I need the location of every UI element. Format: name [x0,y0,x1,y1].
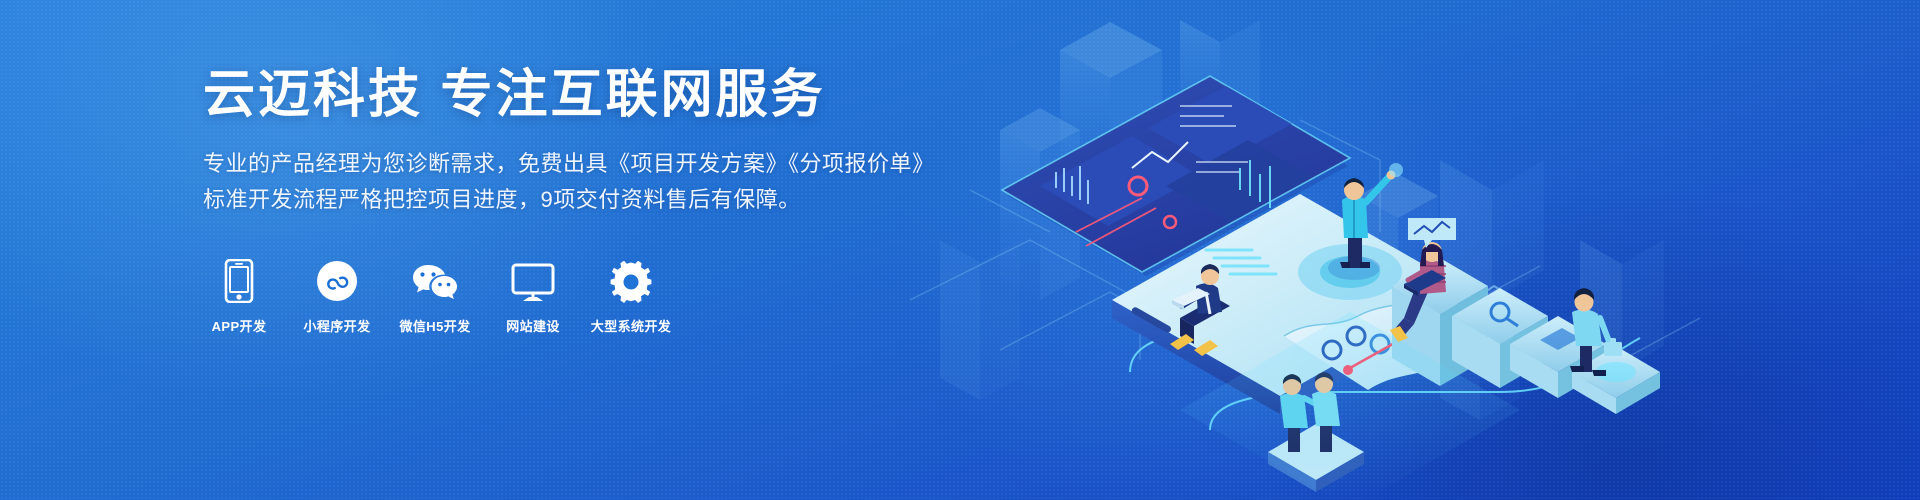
mobile-phone-icon [224,259,254,303]
data-report-sheet [1284,286,1520,390]
service-item-mini-program[interactable]: 小程序开发 [301,259,373,335]
mini-program-icon [316,259,358,303]
dashboard-screen [1002,76,1350,276]
service-list: APP开发 小程序开发 [203,259,923,335]
glowing-floor-path [1130,286,1640,430]
tablet-platform [1112,194,1468,414]
service-label: APP开发 [212,316,267,335]
service-item-large-system[interactable]: 大型系统开发 [595,259,667,335]
standing-presenter-figure [1328,163,1403,280]
service-item-wechat-h5[interactable]: 微信H5开发 [399,259,471,335]
step-platform-blocks [1392,258,1660,414]
walking-briefcase-figure [1570,288,1622,376]
service-label: 小程序开发 [303,316,370,335]
service-label: 网站建设 [506,316,560,335]
wechat-icon [410,259,460,303]
desktop-monitor-icon [511,259,555,303]
subtitle-line-1: 专业的产品经理为您诊断需求，免费出具《项目开发方案》《分项报价单》 [203,146,923,182]
subtitle-line-2: 标准开发流程严格把控项目进度，9项交付资料售后有保障。 [203,182,923,218]
service-item-app[interactable]: APP开发 [203,259,275,335]
banner-content: 云迈科技 专注互联网服务 专业的产品经理为您诊断需求，免费出具《项目开发方案》《… [203,66,923,335]
service-label: 大型系统开发 [591,316,671,335]
page-title: 云迈科技 专注互联网服务 [203,66,923,124]
service-item-website[interactable]: 网站建设 [497,259,569,335]
seated-laptop-figure [1170,250,1276,356]
promo-banner: 云迈科技 专注互联网服务 专业的产品经理为您诊断需求，免费出具《项目开发方案》《… [0,0,1920,500]
background-glow-bottom-right [1120,80,1920,500]
woman-on-laptop-figure [1390,218,1456,342]
background-circuit-lines [910,120,1700,372]
gear-icon [610,259,652,303]
platform-glow [1180,312,1520,500]
two-colleagues-figures [1268,372,1364,492]
service-label: 微信H5开发 [399,316,470,335]
isometric-tech-team-illustration [880,0,1920,500]
background-isometric-buildings [940,20,1664,420]
